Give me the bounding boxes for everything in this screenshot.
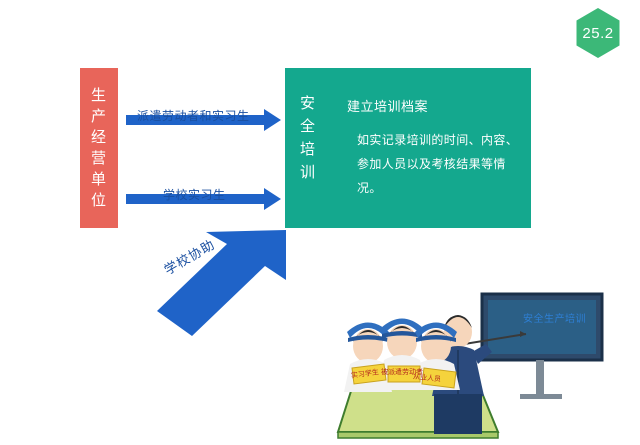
arrow-head-icon xyxy=(264,188,281,210)
redbox-char-5: 位 xyxy=(91,190,107,211)
redbox-char-4: 单 xyxy=(91,169,107,190)
section-number-badge: 25.2 xyxy=(573,8,623,58)
whiteboard-caption: 安全生产培训 xyxy=(523,310,586,325)
arrow-label-school-intern: 学校实习生 xyxy=(163,186,226,203)
section-number-label: 25.2 xyxy=(573,8,623,58)
redbox-char-1: 产 xyxy=(91,106,107,127)
tealbox-char-2: 培 xyxy=(295,138,321,161)
tealbox-char-1: 全 xyxy=(295,115,321,138)
tealbox-body-text: 如实记录培训的时间、内容、参加人员以及考核结果等情况。 xyxy=(357,128,522,200)
entity-box-production-unit: 生 产 经 营 单 位 xyxy=(80,68,118,228)
arrow-head-icon xyxy=(264,109,281,131)
redbox-char-0: 生 xyxy=(91,85,107,106)
arrow-label-dispatch: 派遣劳动者和实习生 xyxy=(137,107,250,124)
tealbox-vertical-label: 安 全 培 训 xyxy=(295,92,321,184)
entity-box-safety-training: 安 全 培 训 建立培训档案 如实记录培训的时间、内容、参加人员以及考核结果等情… xyxy=(285,68,531,228)
redbox-char-3: 营 xyxy=(91,148,107,169)
tealbox-char-3: 训 xyxy=(295,161,321,184)
redbox-char-2: 经 xyxy=(91,127,107,148)
slide-canvas: 25.2 生 产 经 营 单 位 安 全 培 训 建立培训档案 如实记录培训的时… xyxy=(0,0,640,443)
arrow-school-assist xyxy=(150,228,290,338)
tealbox-char-0: 安 xyxy=(295,92,321,115)
illustration-svg xyxy=(330,280,620,440)
tealbox-title: 建立培训档案 xyxy=(347,96,428,115)
arrow-school-assist-icon xyxy=(150,228,290,338)
classroom-illustration xyxy=(330,280,620,440)
